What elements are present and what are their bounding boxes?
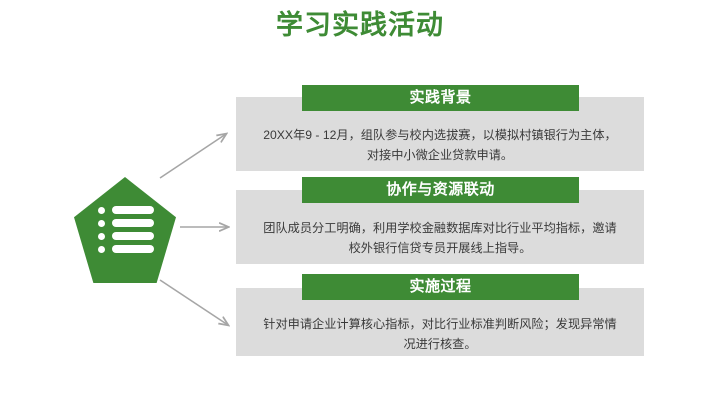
list-row (98, 245, 154, 253)
list-row (98, 232, 154, 240)
block-2-body-text: 团队成员分工明确，利用学校金融数据库对比行业平均指标，邀请校外银行信贷专员开展线… (236, 218, 644, 258)
page-title: 学习实践活动 (0, 8, 720, 42)
slide-canvas: 学习实践活动 (0, 0, 720, 405)
list-bar (112, 219, 154, 227)
list-bullet-dot (98, 220, 105, 227)
content-block-1[interactable]: 20XX年9 - 12月，组队参与校内选拔赛，以模拟村镇银行为主体，对接中小微企… (236, 85, 644, 171)
block-1-header[interactable]: 实践背景 (302, 85, 579, 111)
block-3-header[interactable]: 实施过程 (302, 274, 579, 300)
arrow-to-block-1 (160, 134, 226, 178)
content-block-2[interactable]: 团队成员分工明确，利用学校金融数据库对比行业平均指标，邀请校外银行信贷专员开展线… (236, 177, 644, 264)
list-row (98, 219, 154, 227)
content-block-3[interactable]: 针对申请企业计算核心指标，对比行业标准判断风险；发现异常情况进行核查。 实施过程 (236, 274, 644, 356)
bullet-list-icon (98, 206, 154, 254)
list-bar (112, 245, 154, 253)
block-1-body-text: 20XX年9 - 12月，组队参与校内选拔赛，以模拟村镇银行为主体，对接中小微企… (236, 125, 644, 165)
list-bar (112, 232, 154, 240)
list-row (98, 206, 154, 214)
list-bullet-dot (98, 233, 105, 240)
block-2-header[interactable]: 协作与资源联动 (302, 177, 579, 203)
list-bar (112, 206, 154, 214)
list-bullet-dot (98, 246, 105, 253)
block-3-body-text: 针对申请企业计算核心指标，对比行业标准判断风险；发现异常情况进行核查。 (236, 314, 644, 354)
list-bullet-dot (98, 207, 105, 214)
arrow-to-block-3 (160, 280, 228, 325)
source-node-pentagon[interactable] (74, 177, 176, 283)
